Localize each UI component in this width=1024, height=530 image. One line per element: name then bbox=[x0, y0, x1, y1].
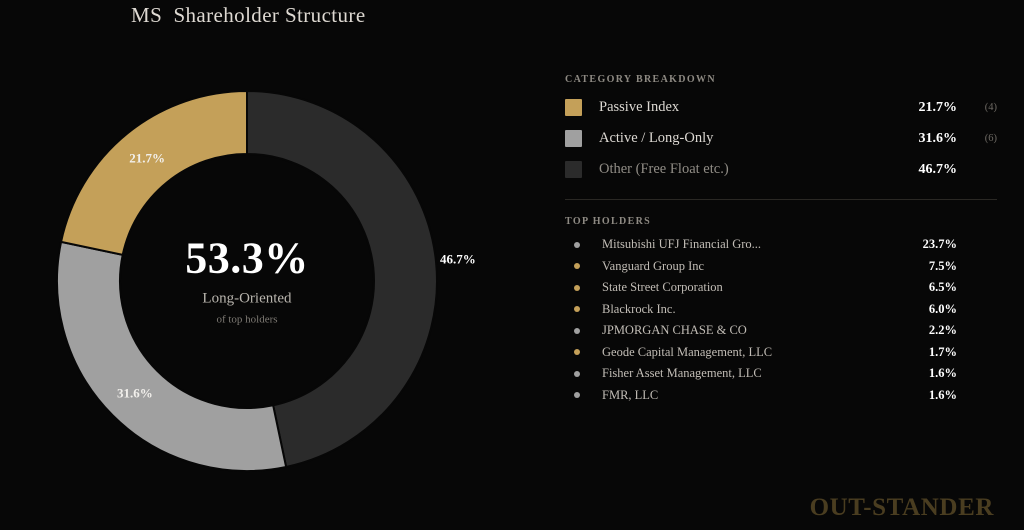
category-row[interactable]: Active / Long-Only31.6%(6) bbox=[565, 123, 997, 154]
category-breakdown-list: Passive Index21.7%(4)Active / Long-Only3… bbox=[565, 92, 997, 185]
category-label: Other (Free Float etc.) bbox=[599, 161, 899, 178]
holder-row[interactable]: State Street Corporation6.5% bbox=[565, 277, 997, 299]
category-percent: 21.7% bbox=[899, 100, 957, 116]
donut-center-sublabel: of top holders bbox=[127, 314, 367, 326]
donut-center-value: 53.3% bbox=[127, 237, 367, 281]
holder-percent: 2.2% bbox=[901, 323, 957, 338]
holder-bullet-icon bbox=[574, 349, 580, 355]
holder-bullet-icon bbox=[574, 263, 580, 269]
holder-percent: 1.6% bbox=[901, 388, 957, 403]
category-percent: 46.7% bbox=[899, 162, 957, 178]
holder-percent: 1.7% bbox=[901, 345, 957, 360]
holder-name: FMR, LLC bbox=[602, 388, 901, 403]
donut-slice-label: 21.7% bbox=[129, 150, 165, 165]
category-count: (6) bbox=[957, 133, 997, 144]
holder-bullet-icon bbox=[574, 285, 580, 291]
donut-chart: 46.7%31.6%21.7% 53.3% Long-Oriented of t… bbox=[0, 0, 520, 530]
category-color-swatch bbox=[565, 130, 582, 147]
holder-row[interactable]: Vanguard Group Inc7.5% bbox=[565, 256, 997, 278]
holder-row[interactable]: Mitsubishi UFJ Financial Gro...23.7% bbox=[565, 234, 997, 256]
dashboard-root: MS Shareholder Structure 46.7%31.6%21.7%… bbox=[0, 0, 1024, 530]
holder-percent: 1.6% bbox=[901, 366, 957, 381]
holder-percent: 6.0% bbox=[901, 302, 957, 317]
holder-bullet-icon bbox=[574, 371, 580, 377]
donut-slice[interactable] bbox=[61, 91, 247, 255]
holder-percent: 7.5% bbox=[901, 259, 957, 274]
panel-divider bbox=[565, 199, 997, 200]
holder-percent: 6.5% bbox=[901, 280, 957, 295]
side-panel: CATEGORY BREAKDOWN Passive Index21.7%(4)… bbox=[565, 74, 997, 406]
donut-center: 53.3% Long-Oriented of top holders bbox=[127, 237, 367, 326]
holder-bullet-icon bbox=[574, 242, 580, 248]
top-holders-list: Mitsubishi UFJ Financial Gro...23.7%Vang… bbox=[565, 234, 997, 406]
holder-row[interactable]: FMR, LLC1.6% bbox=[565, 385, 997, 407]
category-row[interactable]: Other (Free Float etc.)46.7% bbox=[565, 154, 997, 185]
category-label: Passive Index bbox=[599, 99, 899, 116]
holder-bullet-icon bbox=[574, 306, 580, 312]
holder-row[interactable]: JPMORGAN CHASE & CO2.2% bbox=[565, 320, 997, 342]
category-breakdown-heading: CATEGORY BREAKDOWN bbox=[565, 74, 997, 85]
donut-center-label: Long-Oriented bbox=[127, 291, 367, 308]
holder-name: Vanguard Group Inc bbox=[602, 259, 901, 274]
top-holders-heading: TOP HOLDERS bbox=[565, 216, 997, 227]
holder-name: Geode Capital Management, LLC bbox=[602, 345, 901, 360]
holder-name: Fisher Asset Management, LLC bbox=[602, 366, 901, 381]
holder-row[interactable]: Geode Capital Management, LLC1.7% bbox=[565, 342, 997, 364]
category-row[interactable]: Passive Index21.7%(4) bbox=[565, 92, 997, 123]
holder-name: State Street Corporation bbox=[602, 280, 901, 295]
donut-slice-label: 46.7% bbox=[440, 252, 476, 267]
holder-row[interactable]: Fisher Asset Management, LLC1.6% bbox=[565, 363, 997, 385]
category-color-swatch bbox=[565, 161, 582, 178]
holder-bullet-icon bbox=[574, 392, 580, 398]
holder-bullet-icon bbox=[574, 328, 580, 334]
holder-percent: 23.7% bbox=[901, 237, 957, 252]
donut-slice-label: 31.6% bbox=[117, 386, 153, 401]
holder-name: Mitsubishi UFJ Financial Gro... bbox=[602, 237, 901, 252]
holder-name: Blackrock Inc. bbox=[602, 302, 901, 317]
category-color-swatch bbox=[565, 99, 582, 116]
category-label: Active / Long-Only bbox=[599, 130, 899, 147]
category-percent: 31.6% bbox=[899, 131, 957, 147]
holder-name: JPMORGAN CHASE & CO bbox=[602, 323, 901, 338]
category-count: (4) bbox=[957, 102, 997, 113]
brand-watermark: OUT-STANDER bbox=[810, 494, 994, 522]
holder-row[interactable]: Blackrock Inc.6.0% bbox=[565, 299, 997, 321]
